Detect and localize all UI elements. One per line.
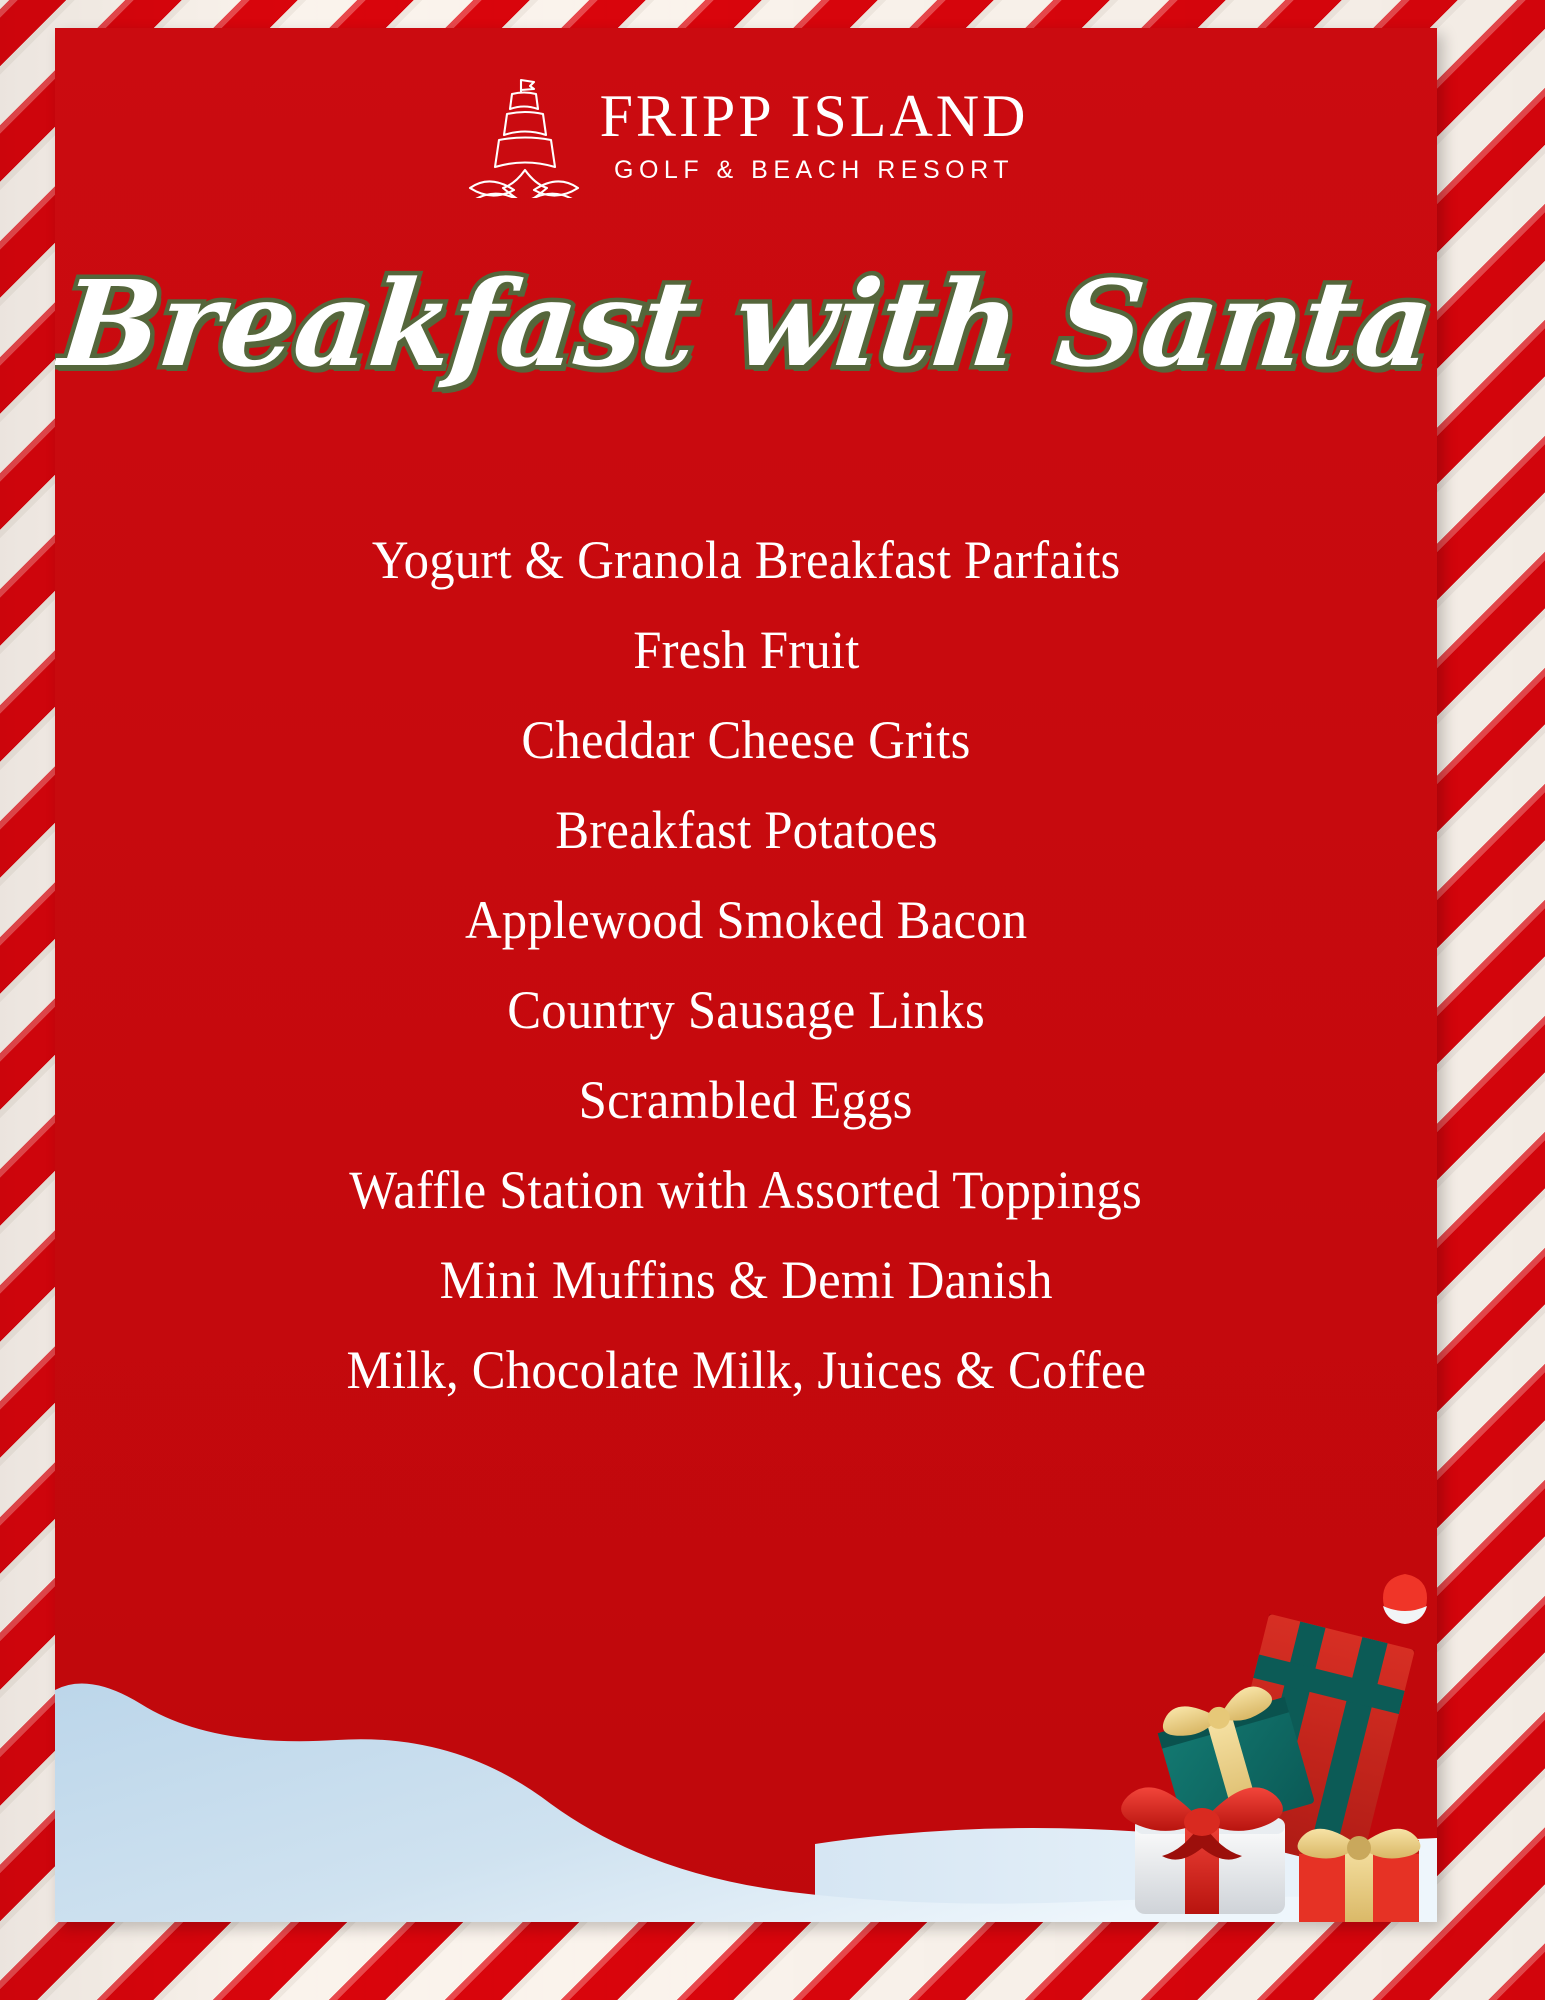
menu-item: Waffle Station with Assorted Toppings bbox=[350, 1163, 1143, 1217]
logo-name: FRIPP ISLAND bbox=[600, 86, 1029, 146]
menu-item: Scrambled Eggs bbox=[579, 1073, 913, 1127]
resort-logo: FRIPP ISLAND GOLF & BEACH RESORT bbox=[55, 70, 1437, 198]
santa-hat-ornament bbox=[1383, 1574, 1427, 1624]
gift-boxes-cluster bbox=[1113, 1566, 1437, 1922]
menu-item: Mini Muffins & Demi Danish bbox=[439, 1253, 1052, 1307]
menu-item: Applewood Smoked Bacon bbox=[465, 893, 1027, 947]
logo-tagline: GOLF & BEACH RESORT bbox=[614, 158, 1014, 183]
poster-panel: FRIPP ISLAND GOLF & BEACH RESORT Breakfa… bbox=[55, 28, 1437, 1922]
menu-item: Milk, Chocolate Milk, Juices & Coffee bbox=[346, 1343, 1146, 1397]
menu-item: Yogurt & Granola Breakfast Parfaits bbox=[372, 533, 1121, 587]
menu-item: Cheddar Cheese Grits bbox=[521, 713, 970, 767]
menu-item: Country Sausage Links bbox=[507, 983, 985, 1037]
snow-drift bbox=[55, 1592, 1437, 1922]
menu-item: Breakfast Potatoes bbox=[555, 803, 938, 857]
title-text: Breakfast with Santa bbox=[55, 264, 1437, 384]
menu-list: Yogurt & Granola Breakfast Parfaits Fres… bbox=[95, 533, 1397, 1397]
menu-item: Fresh Fruit bbox=[633, 623, 859, 677]
poster: FRIPP ISLAND GOLF & BEACH RESORT Breakfa… bbox=[0, 0, 1545, 2000]
page-title: Breakfast with Santa bbox=[55, 264, 1437, 384]
sailboat-lighthouse-icon bbox=[464, 70, 584, 198]
